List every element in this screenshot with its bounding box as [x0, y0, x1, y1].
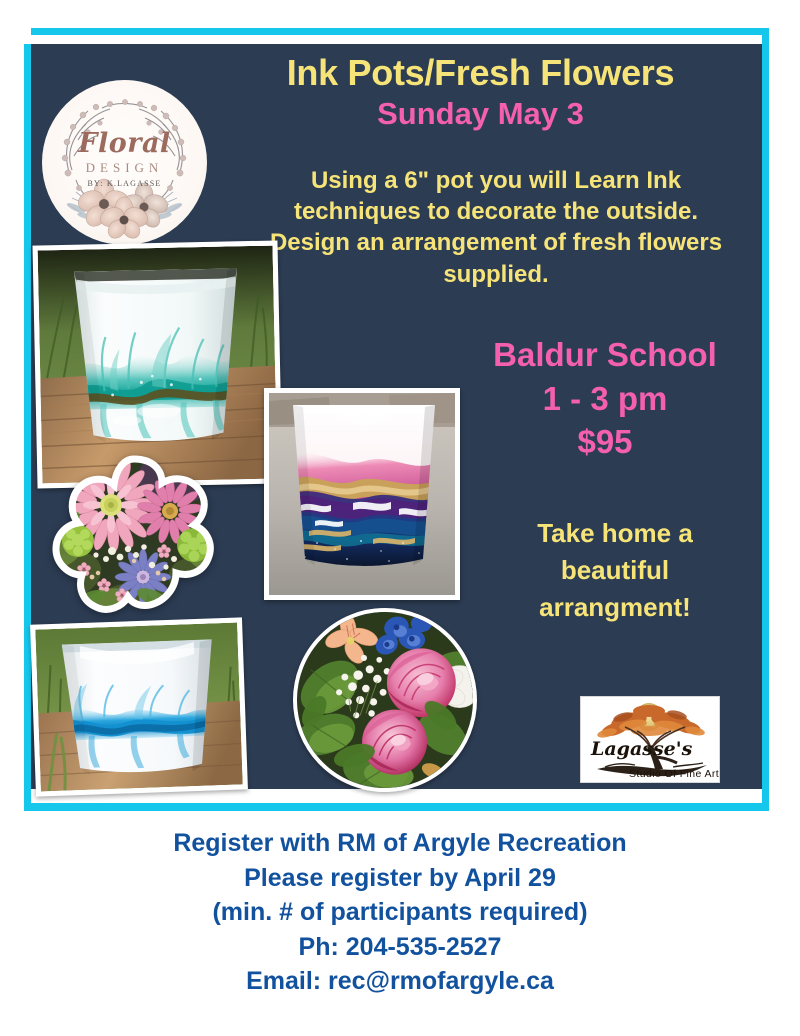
headline-block: Ink Pots/Fresh Flowers Sunday May 3	[228, 54, 733, 131]
studio-logo-tagline: Studio Of Fine Art	[629, 768, 719, 780]
footer-registration-info: Register with RM of Argyle Recreation Pl…	[0, 826, 800, 999]
photo-mixed-bouquet-image	[48, 455, 220, 615]
photo-teal-ink-pot	[32, 240, 282, 488]
frame-accent-top	[31, 28, 769, 35]
frame-accent-left	[24, 44, 31, 811]
venue-location: Baldur School	[455, 333, 755, 377]
photo-blue-ink-pot-image	[35, 623, 243, 792]
venue-time: 1 - 3 pm	[455, 377, 755, 421]
footer-line-minimum: (min. # of participants required)	[0, 895, 800, 930]
poster-canvas: Floral DESIGN BY: K.LAGASSE Ink Pots/Fre…	[0, 0, 800, 1036]
photo-pink-navy-ink-pot	[264, 388, 460, 600]
lagasse-studio-logo: Lagasse's Studio Of Fine Art	[580, 696, 720, 783]
frame-accent-bottom	[24, 803, 769, 811]
photo-blue-ink-pot	[30, 617, 248, 796]
poster-date: Sunday May 3	[228, 96, 733, 132]
photo-mixed-bouquet	[48, 455, 220, 615]
frame-accent-right	[762, 28, 769, 810]
footer-line-email[interactable]: Email: rec@rmofargyle.ca	[0, 964, 800, 999]
venue-price: $95	[455, 420, 755, 464]
photo-rose-bouquet-image	[297, 612, 473, 788]
studio-logo-name: Lagasse's	[590, 738, 693, 760]
poster-title: Ink Pots/Fresh Flowers	[228, 54, 733, 92]
venue-block: Baldur School 1 - 3 pm $95	[455, 333, 755, 464]
footer-line-deadline: Please register by April 29	[0, 861, 800, 896]
footer-line-phone[interactable]: Ph: 204-535-2527	[0, 930, 800, 965]
photo-pink-navy-ink-pot-image	[269, 393, 455, 595]
floral-design-logo: Floral DESIGN BY: K.LAGASSE	[42, 80, 207, 245]
takeaway-text: Take home a beautiful arrangment!	[490, 515, 740, 626]
photo-rose-bouquet	[293, 608, 477, 792]
poster-description: Using a 6" pot you will Learn Ink techni…	[252, 165, 740, 290]
photo-teal-ink-pot-image	[38, 246, 278, 484]
bonsai-tree-sun-icon: Lagasse's Studio Of Fine Art	[581, 697, 719, 782]
wreath-icon	[42, 80, 207, 245]
footer-line-register: Register with RM of Argyle Recreation	[0, 826, 800, 861]
